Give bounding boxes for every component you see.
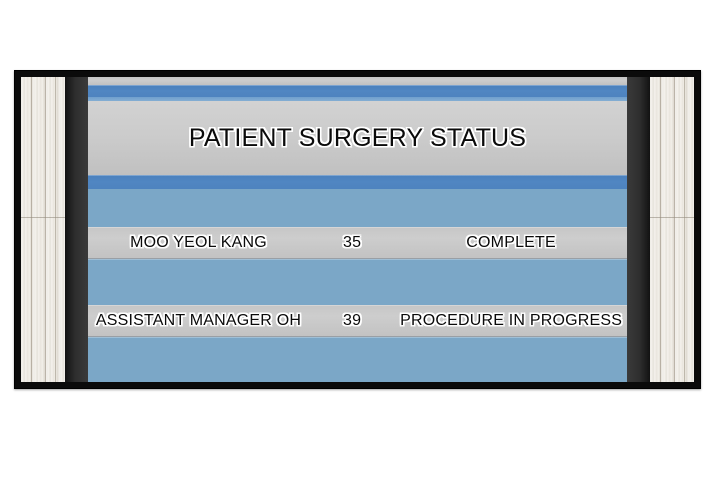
row-gap-top bbox=[88, 189, 627, 227]
panel-seam-right bbox=[650, 217, 694, 218]
table-row[interactable]: ASSISTANT MANAGER OH 39 PROCEDURE IN PRO… bbox=[88, 305, 627, 337]
panel-grain-line bbox=[660, 77, 661, 382]
left-wall-panel bbox=[21, 77, 65, 382]
table-row[interactable]: MOO YEOL KANG 35 COMPLETE bbox=[88, 227, 627, 259]
left-bezel bbox=[65, 77, 88, 382]
screenshot-stage: PATIENT SURGERY STATUS MOO YEOL KANG 35 … bbox=[0, 0, 720, 500]
row-gap-middle bbox=[88, 259, 627, 305]
status-badge: PROCEDURE IN PROGRESS bbox=[395, 313, 627, 329]
header-separator-bar bbox=[88, 175, 627, 189]
title-band: PATIENT SURGERY STATUS bbox=[88, 101, 627, 175]
panel-grain-line bbox=[55, 77, 56, 382]
panel-grain-line bbox=[31, 77, 32, 382]
panel-seam-left bbox=[21, 217, 65, 218]
patient-name: MOO YEOL KANG bbox=[88, 235, 309, 251]
patient-name: ASSISTANT MANAGER OH bbox=[88, 313, 309, 329]
patient-age: 39 bbox=[309, 313, 395, 329]
surgery-status-board-frame: PATIENT SURGERY STATUS MOO YEOL KANG 35 … bbox=[14, 70, 701, 389]
panel-grain-line bbox=[45, 77, 46, 382]
hairline bbox=[88, 259, 627, 260]
row-gap-bottom bbox=[88, 337, 627, 382]
hairline bbox=[88, 175, 627, 176]
right-wall-panel bbox=[650, 77, 694, 382]
right-bezel bbox=[627, 77, 650, 382]
status-screen: PATIENT SURGERY STATUS MOO YEOL KANG 35 … bbox=[88, 77, 627, 382]
panel-grain-line bbox=[674, 77, 675, 382]
screen-top-accent-bar bbox=[88, 85, 627, 97]
screen-top-gray-strip bbox=[88, 77, 627, 85]
page-title: PATIENT SURGERY STATUS bbox=[189, 126, 526, 151]
hairline bbox=[88, 337, 627, 338]
status-badge: COMPLETE bbox=[395, 235, 627, 251]
board-inner: PATIENT SURGERY STATUS MOO YEOL KANG 35 … bbox=[21, 77, 694, 382]
patient-age: 35 bbox=[309, 235, 395, 251]
hairline bbox=[88, 85, 627, 86]
hairline bbox=[88, 305, 627, 306]
panel-grain-line bbox=[684, 77, 685, 382]
hairline bbox=[88, 227, 627, 228]
